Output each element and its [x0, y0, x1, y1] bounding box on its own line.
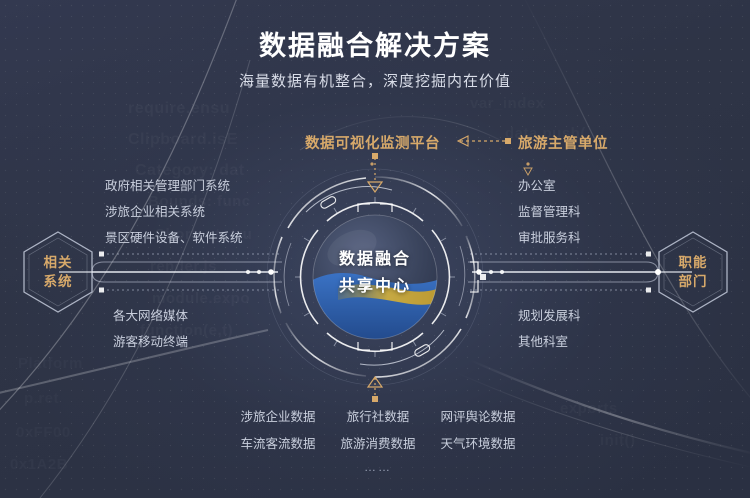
- diagram-canvas: require.ensu Clipboard.isE Category: dat…: [0, 0, 750, 498]
- list-item[interactable]: 规划发展科: [518, 303, 581, 329]
- bottom-data-ellipsis: ……: [228, 460, 528, 474]
- watermark-text: 0x1A2B: [10, 456, 68, 473]
- label-visualization-platform[interactable]: 数据可视化监测平台: [305, 132, 440, 153]
- left-bottom-system-list: 各大网络媒体 游客移动终端: [113, 303, 188, 355]
- list-item[interactable]: 涉旅企业相关系统: [105, 199, 243, 225]
- watermark-text: require.ensu: [128, 100, 230, 118]
- right-bottom-department-list: 规划发展科 其他科室: [518, 303, 581, 355]
- core-label-line1: 数据融合: [315, 246, 435, 273]
- ring-capsule-marker-upper: [320, 195, 337, 209]
- hexagon-right-label-line2: 部门: [648, 272, 738, 291]
- hexagon-right-label-line1: 职能: [648, 253, 738, 272]
- watermark-text: exports: [560, 400, 618, 417]
- core-label-line2: 共享中心: [315, 273, 435, 300]
- list-item[interactable]: 审批服务科: [518, 225, 581, 251]
- list-item[interactable]: 其他科室: [518, 329, 581, 355]
- list-item[interactable]: 旅行社数据: [328, 404, 428, 431]
- watermark-text: var_index: [470, 95, 545, 112]
- watermark-text: Clipboard.isE: [128, 131, 238, 149]
- list-item[interactable]: 车流客流数据: [228, 431, 328, 458]
- core-sphere-label: 数据融合 共享中心: [315, 246, 435, 300]
- hexagon-left-label[interactable]: 相关 系统: [13, 253, 103, 291]
- watermark-text: init(): [600, 432, 635, 449]
- list-item[interactable]: 各大网络媒体: [113, 303, 188, 329]
- left-top-system-list: 政府相关管理部门系统 涉旅企业相关系统 景区硬件设备、软件系统: [105, 173, 243, 251]
- list-item[interactable]: 涉旅企业数据: [228, 404, 328, 431]
- watermark-text: 0xFF00: [16, 424, 71, 441]
- list-item[interactable]: 旅游消费数据: [328, 431, 428, 458]
- hexagon-left-label-line2: 系统: [13, 272, 103, 291]
- list-item[interactable]: 天气环境数据: [428, 431, 528, 458]
- ring-capsule-marker-lower: [414, 343, 431, 357]
- table-row: 涉旅企业数据 旅行社数据 网评舆论数据: [228, 404, 528, 431]
- list-item[interactable]: 网评舆论数据: [428, 404, 528, 431]
- list-item[interactable]: 政府相关管理部门系统: [105, 173, 243, 199]
- watermark-text: Platform: [18, 355, 83, 372]
- page-title: 数据融合解决方案: [0, 24, 750, 63]
- arrow-platform-authority: [458, 136, 511, 146]
- list-item[interactable]: 游客移动终端: [113, 329, 188, 355]
- watermark-text: p.ret: [24, 390, 59, 407]
- accent-tick-marks: [370, 162, 529, 172]
- bottom-data-source-grid: 涉旅企业数据 旅行社数据 网评舆论数据 车流客流数据 旅游消费数据 天气环境数据: [228, 404, 528, 458]
- label-tourism-authority[interactable]: 旅游主管单位: [518, 132, 608, 153]
- list-item[interactable]: 监督管理科: [518, 199, 581, 225]
- watermark-text: render.js: [150, 258, 217, 275]
- right-top-department-list: 办公室 监督管理科 审批服务科: [518, 173, 581, 251]
- list-item[interactable]: 景区硬件设备、软件系统: [105, 225, 243, 251]
- arrow-down-to-core: [368, 153, 382, 192]
- list-item[interactable]: 办公室: [518, 173, 581, 199]
- hexagon-right-label[interactable]: 职能 部门: [648, 253, 738, 291]
- page-subtitle: 海量数据有机整合，深度挖掘内在价值: [0, 70, 750, 91]
- arrow-up-to-core: [368, 377, 382, 402]
- table-row: 车流客流数据 旅游消费数据 天气环境数据: [228, 431, 528, 458]
- hexagon-left-label-line1: 相关: [13, 253, 103, 272]
